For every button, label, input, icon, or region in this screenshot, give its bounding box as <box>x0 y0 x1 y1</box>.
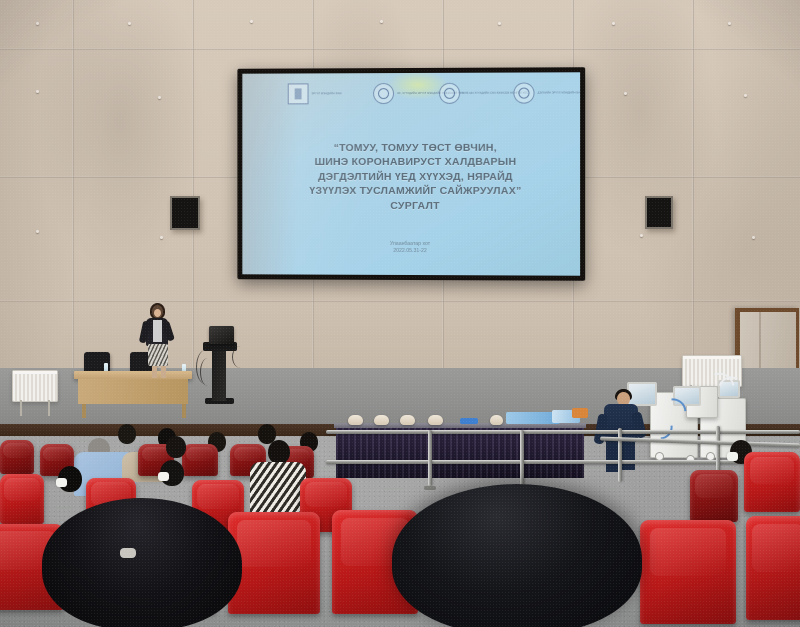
podium-monitor <box>209 326 234 344</box>
seat[interactable] <box>746 516 800 620</box>
audience-body <box>250 462 306 514</box>
seat[interactable] <box>690 470 738 522</box>
infant-manikin <box>400 415 415 425</box>
infant-manikin <box>490 415 503 425</box>
face-mask <box>56 478 67 487</box>
projection-screen: ЭРҮҮЛ МЭНДИЙН ЯАМ ЭХ, ХҮҮХДИЙН ЭРҮҮЛ МЭН… <box>237 67 585 281</box>
foreground-attendee-head <box>392 484 642 627</box>
logo-caption: ДЭЛХИЙН ЭРҮҮЛ МЭНДИЙН БАЙГУУЛЛАГА <box>538 91 581 95</box>
slide-surface: ЭРҮҮЛ МЭНДИЙН ЯАМ ЭХ, ХҮҮХДИЙН ЭРҮҮЛ МЭН… <box>242 72 580 275</box>
screen-glare <box>242 72 454 275</box>
seat[interactable] <box>0 474 44 524</box>
medical-supply <box>460 418 478 424</box>
face-mask <box>158 472 169 481</box>
railing-post <box>618 428 622 482</box>
face-mask <box>727 452 738 461</box>
presenter-table-top <box>74 371 192 379</box>
medical-supply <box>572 408 588 418</box>
audience-head <box>118 424 136 444</box>
foreground-attendee-head <box>42 498 242 627</box>
audience-head <box>268 440 290 464</box>
wall-speaker-left-icon <box>170 196 200 230</box>
infant-manikin <box>374 415 389 425</box>
hair-tie <box>120 548 136 558</box>
presenter-table-body <box>78 379 188 404</box>
radiator-left <box>12 370 58 402</box>
railing-top <box>326 430 800 434</box>
railing-post <box>520 430 524 488</box>
audience-head <box>166 436 186 458</box>
infant-manikin <box>348 415 363 425</box>
railing-post <box>428 430 432 486</box>
seat[interactable] <box>744 452 800 512</box>
equipment-display-table-skirt <box>336 428 584 478</box>
unicef-emblem-icon <box>439 83 460 104</box>
who-emblem-icon <box>513 83 534 104</box>
seat[interactable] <box>640 520 736 624</box>
infant-manikin <box>428 415 443 425</box>
presenter-face <box>154 309 161 317</box>
auditorium-photo: ЭРҮҮЛ МЭНДИЙН ЯАМ ЭХ, ХҮҮХДИЙН ЭРҮҮЛ МЭН… <box>0 0 800 627</box>
seat[interactable] <box>182 444 218 476</box>
seat[interactable] <box>0 440 34 474</box>
who-logo: ДЭЛХИЙН ЭРҮҮЛ МЭНДИЙН БАЙГУУЛЛАГА <box>513 82 580 103</box>
wall-seam <box>72 0 74 430</box>
railing-post <box>716 426 720 476</box>
wall-seam <box>0 300 800 302</box>
wall-seam <box>0 48 800 50</box>
wall-speaker-right-icon <box>645 196 673 229</box>
